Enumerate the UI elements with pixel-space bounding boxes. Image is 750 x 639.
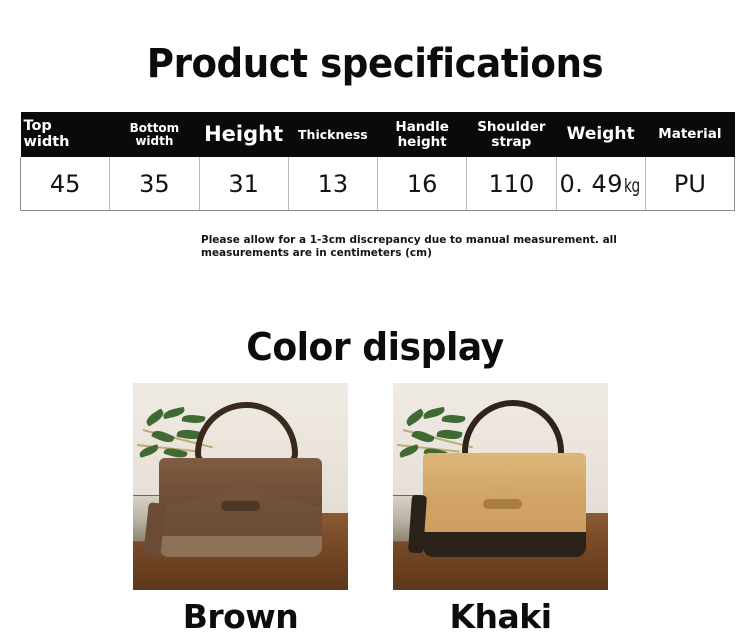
column-header-shoulder-strap-line2: strap: [491, 134, 531, 150]
column-header-top-width-line1: Top: [24, 118, 52, 134]
product-specifications-table-wrapper: Top width Bottom width Height Thickness …: [20, 112, 735, 211]
column-header-handle-height: Handle height: [378, 112, 467, 157]
cell-bottom-width: 35: [110, 157, 199, 211]
brown-bag-scene: [133, 383, 348, 590]
cell-weight-unit: kg: [624, 175, 640, 197]
page-title: Product specifications: [26, 41, 724, 87]
color-display-row: Brown: [0, 383, 750, 639]
column-header-material: Material: [645, 112, 734, 157]
column-header-height: Height: [199, 112, 288, 157]
table-row: 45 35 31 13 16 110 0. 49kg PU: [21, 157, 735, 211]
measurement-disclaimer: Please allow for a 1-3cm discrepancy due…: [201, 234, 706, 261]
color-display-title: Color display: [19, 325, 732, 369]
column-header-shoulder-strap: Shoulder strap: [467, 112, 556, 157]
cell-height: 31: [199, 157, 288, 211]
color-option-khaki[interactable]: Khaki: [393, 383, 608, 633]
color-label-brown: Brown: [133, 600, 348, 633]
column-header-handle-height-line2: height: [398, 134, 447, 150]
bag-slot-handle: [221, 501, 260, 511]
column-header-bottom-width: Bottom width: [110, 112, 199, 157]
table-header-row: Top width Bottom width Height Thickness …: [21, 112, 735, 157]
cell-material: PU: [645, 157, 734, 211]
column-header-top-width-line2: width: [24, 134, 70, 150]
cell-weight: 0. 49kg: [556, 157, 645, 211]
bag-slot-handle: [483, 499, 522, 509]
column-header-top-width: Top width: [21, 112, 110, 157]
table-header: Top width Bottom width Height Thickness …: [21, 112, 735, 157]
cell-top-width: 45: [21, 157, 110, 211]
brown-bag-photo[interactable]: [133, 383, 348, 590]
column-header-thickness: Thickness: [288, 112, 377, 157]
color-option-brown[interactable]: Brown: [133, 383, 348, 633]
cell-weight-value: 0. 49: [559, 170, 623, 198]
color-label-khaki: Khaki: [393, 600, 608, 633]
cell-shoulder-strap: 110: [467, 157, 556, 211]
column-header-bottom-width-line2: width: [135, 134, 173, 148]
cell-thickness: 13: [288, 157, 377, 211]
table-body: 45 35 31 13 16 110 0. 49kg PU: [21, 157, 735, 211]
column-header-weight: Weight: [556, 112, 645, 157]
khaki-bag-photo[interactable]: [393, 383, 608, 590]
bag-base-panel: [159, 536, 322, 557]
khaki-bag-scene: [393, 383, 608, 590]
bag-base-panel: [423, 532, 586, 557]
cell-handle-height: 16: [378, 157, 467, 211]
product-specifications-table: Top width Bottom width Height Thickness …: [20, 112, 735, 211]
